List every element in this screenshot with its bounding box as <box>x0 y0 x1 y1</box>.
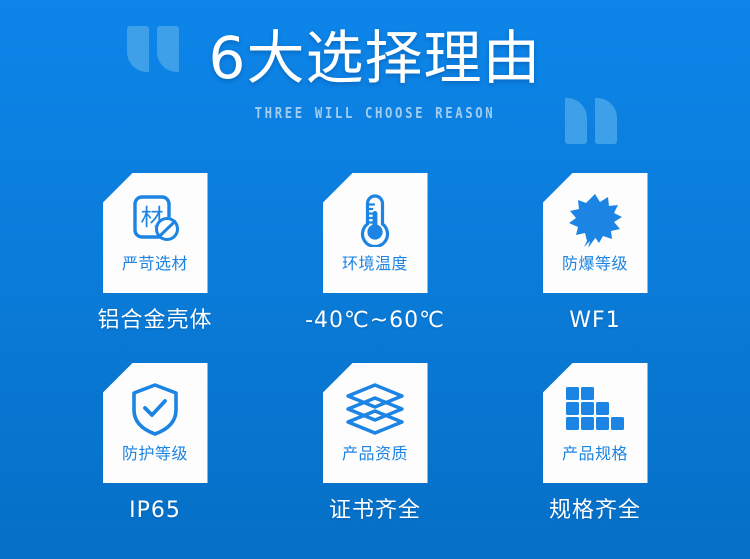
feature-item-temperature: 环境温度 -40℃~60℃ <box>250 173 500 365</box>
banner-title: 6大选择理由 <box>0 22 750 94</box>
stacked-layers-icon <box>323 379 428 439</box>
feature-label: 环境温度 <box>323 253 428 275</box>
feature-card: 防护等级 <box>103 363 208 483</box>
banner-subtitle: THREE WILL CHOOSE REASON <box>68 103 683 123</box>
feature-caption: WF1 <box>470 307 720 335</box>
feature-item-protection: 防护等级 IP65 <box>30 363 280 555</box>
feature-label: 防护等级 <box>103 443 208 465</box>
feature-card: 防爆等级 <box>543 173 648 293</box>
explosion-burst-icon <box>543 189 648 249</box>
feature-caption: 证书齐全 <box>250 497 500 525</box>
feature-label: 防爆等级 <box>543 253 648 275</box>
grid-blocks-icon <box>543 379 648 439</box>
feature-card: 产品规格 <box>543 363 648 483</box>
feature-caption: 规格齐全 <box>470 497 720 525</box>
feature-item-material: 材 严苛选材 铝合金壳体 <box>30 173 280 365</box>
feature-card: 环境温度 <box>323 173 428 293</box>
banner-header: 6大选择理由 THREE WILL CHOOSE REASON <box>0 0 750 165</box>
feature-caption: -40℃~60℃ <box>250 307 500 335</box>
feature-label: 严苛选材 <box>103 253 208 275</box>
feature-card: 材 严苛选材 <box>103 173 208 293</box>
thermometer-icon <box>323 189 428 249</box>
feature-grid: 材 严苛选材 铝合金壳体 <box>0 165 750 559</box>
feature-caption: IP65 <box>30 497 280 525</box>
feature-caption: 铝合金壳体 <box>30 307 280 335</box>
feature-card: 产品资质 <box>323 363 428 483</box>
feature-label: 产品规格 <box>543 443 648 465</box>
feature-label: 产品资质 <box>323 443 428 465</box>
feature-item-explosionproof: 防爆等级 WF1 <box>470 173 720 365</box>
feature-item-certification: 产品资质 证书齐全 <box>250 363 500 555</box>
shield-check-icon <box>103 379 208 439</box>
material-inspection-icon: 材 <box>103 189 208 249</box>
promo-banner: 6大选择理由 THREE WILL CHOOSE REASON 材 <box>0 0 750 559</box>
feature-item-specification: 产品规格 规格齐全 <box>470 363 720 555</box>
